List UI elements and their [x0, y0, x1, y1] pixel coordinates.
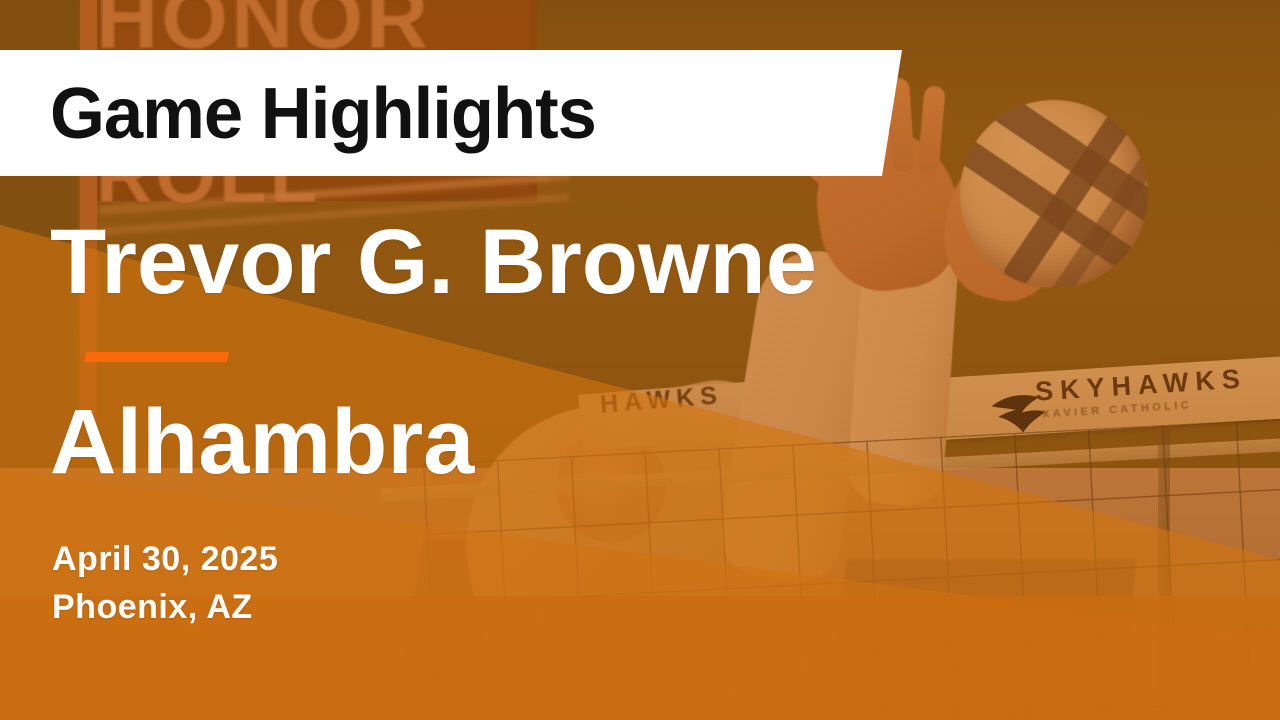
game-location: Phoenix, AZ	[52, 584, 278, 632]
home-team-name: Trevor G. Browne	[50, 216, 817, 308]
kicker-label: Game Highlights	[50, 78, 596, 150]
accent-divider	[84, 352, 229, 362]
away-team-name: Alhambra	[50, 396, 474, 488]
game-highlights-card: HONOR ROLL 5 HAWKS SKYHAWKS XAVIER CATHO…	[0, 0, 1280, 720]
game-date: April 30, 2025	[52, 536, 278, 584]
game-meta: April 30, 2025 Phoenix, AZ	[52, 536, 278, 631]
